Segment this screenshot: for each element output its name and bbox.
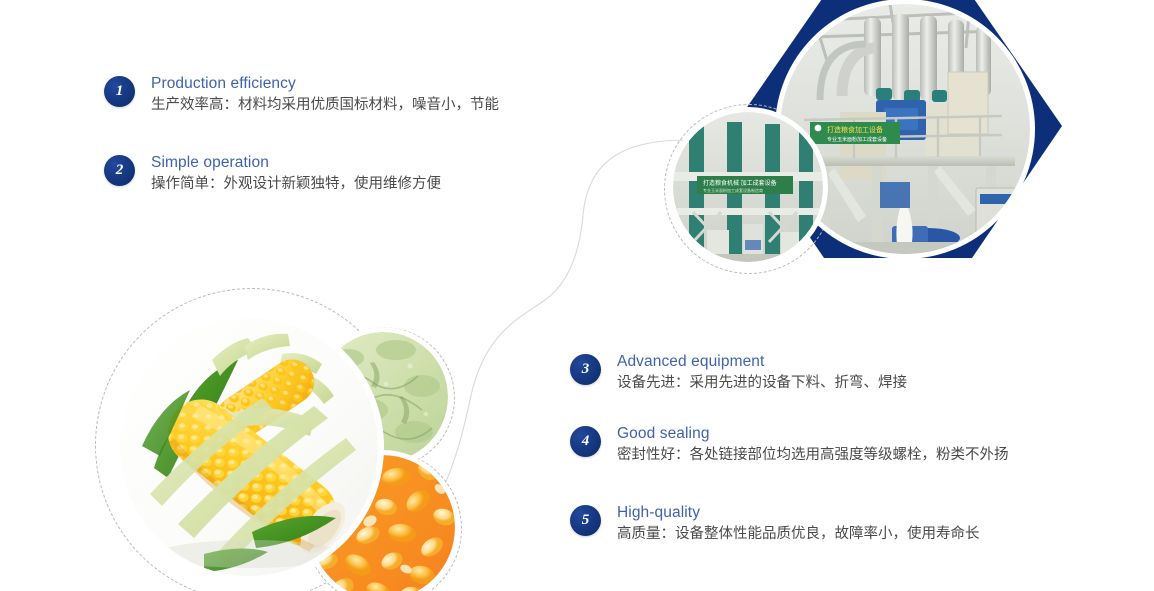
feature-badge-number: 2 bbox=[104, 155, 135, 186]
infographic-canvas: 打造粮食加工设备 专业玉米面粉加工成套设备 bbox=[0, 0, 1154, 591]
feature-title: Good sealing bbox=[617, 424, 1009, 444]
feature-description: 生产效率高：材料均采用优质国标材料，噪音小，节能 bbox=[151, 95, 499, 116]
feature-item-3[interactable]: 3 Advanced equipment 设备先进：采用先进的设备下料、折弯、焊… bbox=[570, 354, 907, 394]
feature-description: 密封性好：各处链接部位均选用高强度等级螺栓，粉类不外扬 bbox=[617, 445, 1009, 466]
teal-milling-line-photo: 打造粮食机械 加工成套设备 专业玉米面粉加工成套设备制造商 bbox=[673, 112, 823, 262]
feature-badge-number: 4 bbox=[570, 426, 601, 457]
svg-text:打造粮食加工设备: 打造粮食加工设备 bbox=[827, 125, 883, 134]
feature-badge-number: 5 bbox=[570, 505, 601, 536]
svg-text:专业玉米面粉加工成套设备: 专业玉米面粉加工成套设备 bbox=[827, 136, 887, 143]
svg-text:专业玉米面粉加工成套设备制造商: 专业玉米面粉加工成套设备制造商 bbox=[703, 187, 763, 193]
feature-badge-number: 1 bbox=[104, 76, 135, 107]
corn-cobs-photo bbox=[120, 318, 378, 576]
feature-description: 设备先进：采用先进的设备下料、折弯、焊接 bbox=[617, 373, 907, 394]
feature-item-5[interactable]: 5 High-quality 高质量：设备整体性能品质优良，故障率小，使用寿命长 bbox=[570, 505, 980, 545]
feature-title: Simple operation bbox=[151, 153, 441, 173]
svg-text:打造粮食机械 加工成套设备: 打造粮食机械 加工成套设备 bbox=[703, 179, 777, 187]
feature-description: 操作简单：外观设计新颖独特，使用维修方便 bbox=[151, 174, 441, 195]
feature-item-2[interactable]: 2 Simple operation 操作简单：外观设计新颖独特，使用维修方便 bbox=[104, 155, 441, 195]
feature-title: Advanced equipment bbox=[617, 352, 907, 372]
feature-description: 高质量：设备整体性能品质优良，故障率小，使用寿命长 bbox=[617, 524, 980, 545]
feature-item-1[interactable]: 1 Production efficiency 生产效率高：材料均采用优质国标材… bbox=[104, 76, 499, 116]
feature-badge-number: 3 bbox=[570, 354, 601, 385]
feature-title: Production efficiency bbox=[151, 74, 499, 94]
feature-item-4[interactable]: 4 Good sealing 密封性好：各处链接部位均选用高强度等级螺栓，粉类不… bbox=[570, 426, 1009, 466]
feature-title: High-quality bbox=[617, 503, 980, 523]
